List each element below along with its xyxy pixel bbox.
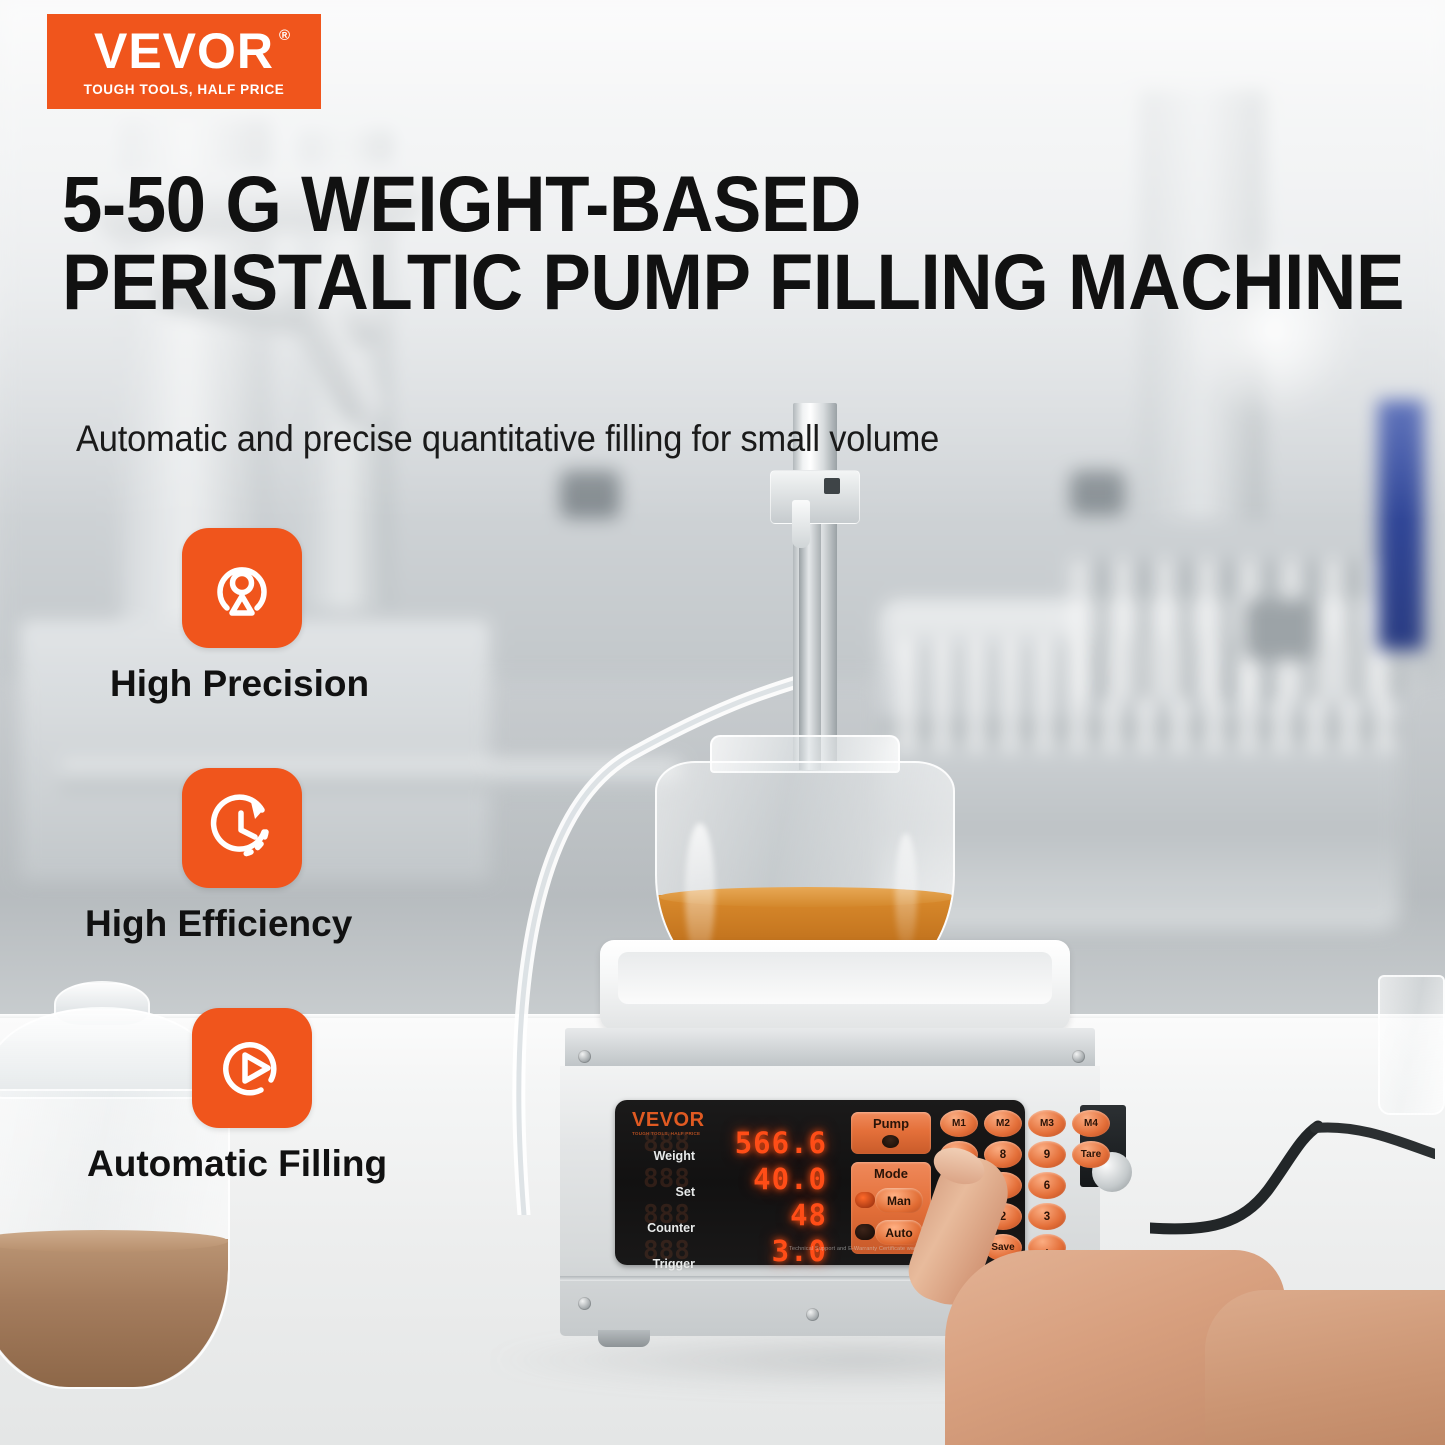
- forearm: [1205, 1290, 1445, 1445]
- registered-mark-icon: ®: [279, 28, 291, 43]
- readout-label-counter: Counter: [647, 1221, 695, 1235]
- readout-value-weight: 566.6: [735, 1126, 827, 1160]
- screw-top-left: [578, 1050, 591, 1063]
- readout-trigger: 888 Trigger 3.0: [623, 1234, 833, 1270]
- screw-bottom-center: [806, 1308, 819, 1321]
- readout-value-counter: 48: [790, 1198, 827, 1232]
- nozzle-clamp: [770, 470, 860, 524]
- key-m1[interactable]: M1: [940, 1110, 978, 1137]
- jar-lid: [0, 1007, 216, 1099]
- pump-button-label: Pump: [851, 1116, 931, 1131]
- play-circle-icon: [192, 1008, 312, 1128]
- readout-set: 888 Set 40.0: [623, 1162, 833, 1198]
- column-inner-rod: [799, 520, 821, 770]
- foreground-beaker-right: [1378, 975, 1445, 1115]
- feature-automatic-filling: Automatic Filling: [192, 1008, 387, 1185]
- readout-weight: 888 Weight 566.6: [623, 1126, 833, 1162]
- headline-line-2: PERISTALTIC PUMP FILLING MACHINE: [62, 243, 1286, 321]
- headline-line-1: 5-50 G WEIGHT-BASED: [62, 165, 1286, 243]
- readout-value-set: 40.0: [753, 1162, 827, 1196]
- key-m2[interactable]: M2: [984, 1110, 1022, 1137]
- jar-highlight-right: [895, 833, 917, 953]
- screw-top-right: [1072, 1050, 1085, 1063]
- machine-top-plate: [565, 1028, 1095, 1070]
- mode-led-manual: [855, 1192, 875, 1208]
- jar-left-contents: [0, 1239, 228, 1387]
- readout-label-trigger: Trigger: [653, 1257, 695, 1271]
- page-subtitle: Automatic and precise quantitative filli…: [76, 418, 1192, 460]
- pump-button[interactable]: Pump: [851, 1112, 931, 1154]
- filling-nozzle: [792, 500, 810, 548]
- readout-label-weight: Weight: [654, 1149, 695, 1163]
- operator-hand: [905, 1155, 1445, 1445]
- feature-label: High Precision: [110, 663, 369, 705]
- page-title: 5-50 G WEIGHT-BASED PERISTALTIC PUMP FIL…: [62, 165, 1286, 321]
- logo-tagline: TOUGH TOOLS, HALF PRICE: [84, 82, 285, 97]
- feature-high-efficiency: High Efficiency: [182, 768, 352, 945]
- feature-high-precision: High Precision: [182, 528, 369, 705]
- logo-text: VEVOR: [94, 23, 274, 79]
- led-display-area: 888 Weight 566.6 888 Set 40.0 888 Counte…: [623, 1108, 833, 1260]
- key-m3[interactable]: M3: [1028, 1110, 1066, 1137]
- feature-label: Automatic Filling: [87, 1143, 387, 1185]
- readout-label-set: Set: [676, 1185, 695, 1199]
- key-m4[interactable]: M4: [1072, 1110, 1110, 1137]
- clamp-bolt: [824, 478, 840, 494]
- pump-indicator-hole: [882, 1135, 899, 1148]
- mode-led-auto: [855, 1224, 875, 1240]
- logo-wordmark: VEVOR ®: [94, 26, 274, 76]
- precision-target-icon: [182, 528, 302, 648]
- readout-counter: 888 Counter 48: [623, 1198, 833, 1234]
- platform-well: [618, 952, 1052, 1004]
- screw-bottom-left: [578, 1297, 591, 1310]
- foot-left: [598, 1330, 650, 1347]
- clock-arrow-icon: [182, 768, 302, 888]
- vevor-logo: VEVOR ® TOUGH TOOLS, HALF PRICE: [47, 14, 321, 109]
- feature-label: High Efficiency: [85, 903, 352, 945]
